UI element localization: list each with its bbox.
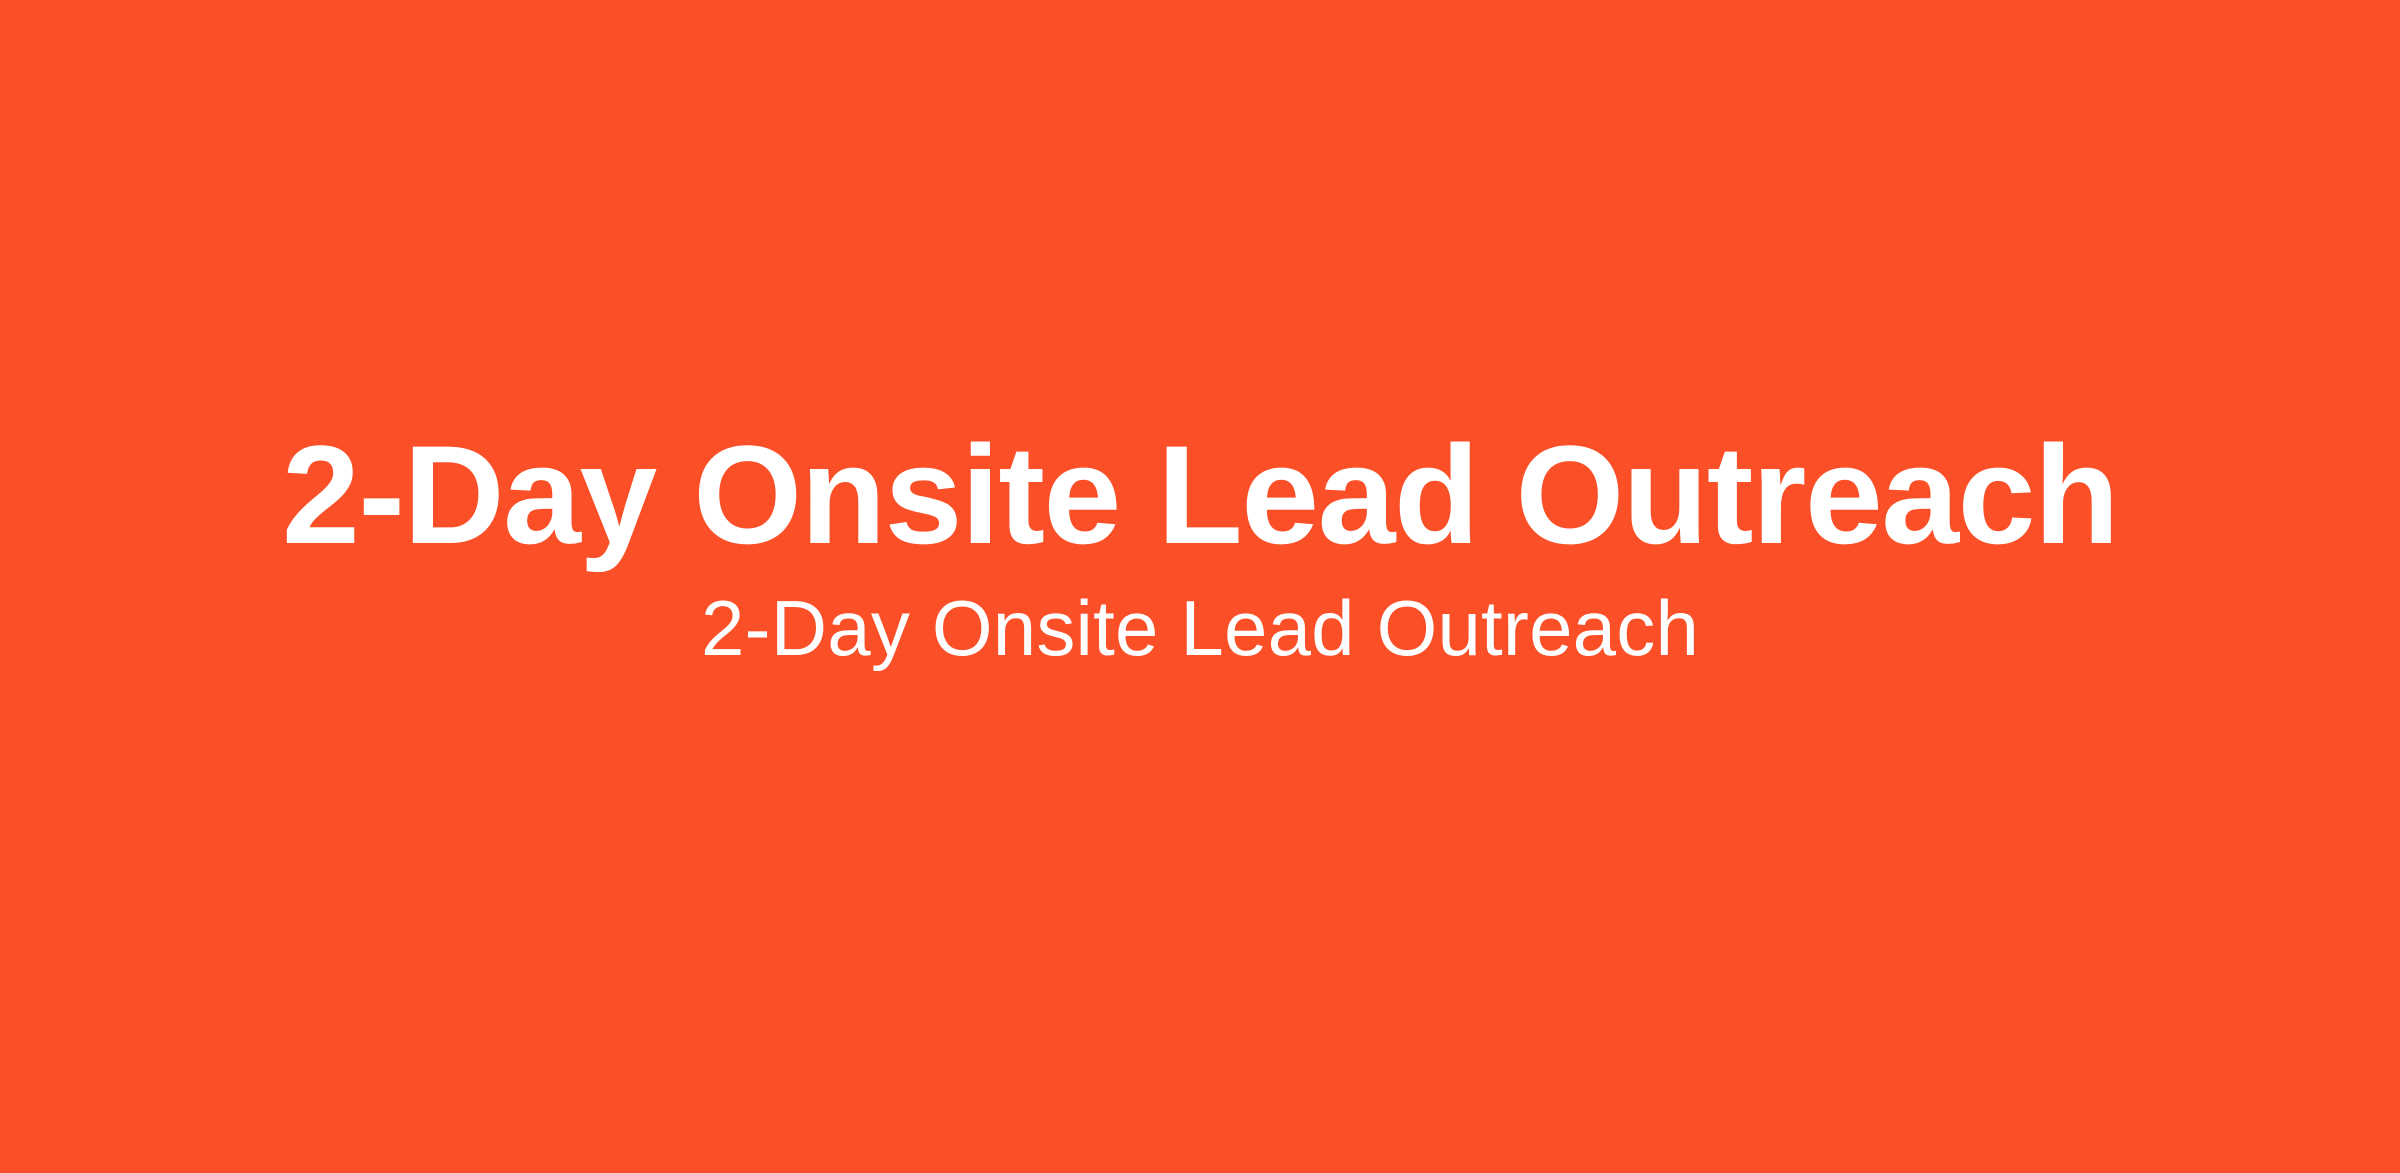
title-block: 2-Day Onsite Lead Outreach 2-Day Onsite …	[0, 421, 2400, 674]
page-title: 2-Day Onsite Lead Outreach	[282, 421, 2118, 569]
page-subtitle: 2-Day Onsite Lead Outreach	[701, 583, 1699, 673]
slide-canvas: 2-Day Onsite Lead Outreach 2-Day Onsite …	[0, 0, 2400, 1173]
